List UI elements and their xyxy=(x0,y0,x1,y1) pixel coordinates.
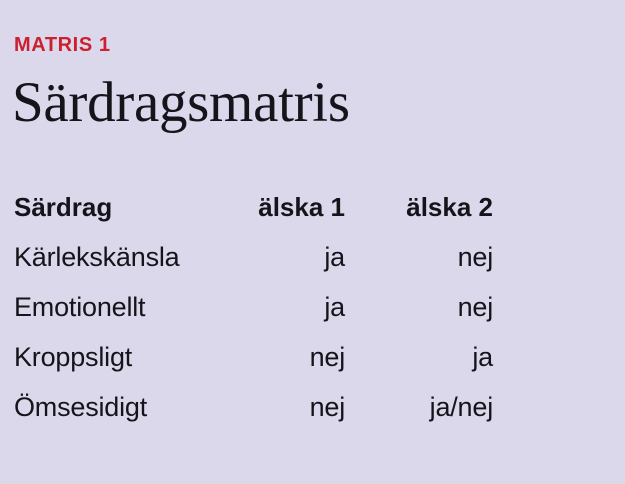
column-header-alska-1: älska 1 xyxy=(237,182,345,232)
cell-alska-1: ja xyxy=(237,282,345,332)
cell-alska-1: nej xyxy=(237,332,345,382)
figure-title: Särdragsmatris xyxy=(12,74,350,131)
table-header: Särdrag älska 1 älska 2 xyxy=(14,182,493,232)
cell-alska-1: nej xyxy=(237,382,345,432)
column-header-alska-2: älska 2 xyxy=(345,182,493,232)
figure-kicker-label: MATRIS 1 xyxy=(14,35,111,55)
cell-alska-2: nej xyxy=(345,232,493,282)
cell-alska-2: ja xyxy=(345,332,493,382)
feature-matrix-table: Särdrag älska 1 älska 2 Kärlekskänsla ja… xyxy=(14,182,493,432)
cell-alska-2: nej xyxy=(345,282,493,332)
table-header-row: Särdrag älska 1 älska 2 xyxy=(14,182,493,232)
cell-alska-1: ja xyxy=(237,232,345,282)
matrix-figure: MATRIS 1 Särdragsmatris Särdrag älska 1 … xyxy=(0,0,625,484)
table-body: Kärlekskänsla ja nej Emotionellt ja nej … xyxy=(14,232,493,432)
table-row: Emotionellt ja nej xyxy=(14,282,493,332)
table-row: Kroppsligt nej ja xyxy=(14,332,493,382)
table-row: Ömsesidigt nej ja/nej xyxy=(14,382,493,432)
cell-alska-2: ja/nej xyxy=(345,382,493,432)
cell-feature: Kroppsligt xyxy=(14,332,237,382)
column-header-feature: Särdrag xyxy=(14,182,237,232)
cell-feature: Ömsesidigt xyxy=(14,382,237,432)
cell-feature: Emotionellt xyxy=(14,282,237,332)
table-row: Kärlekskänsla ja nej xyxy=(14,232,493,282)
cell-feature: Kärlekskänsla xyxy=(14,232,237,282)
